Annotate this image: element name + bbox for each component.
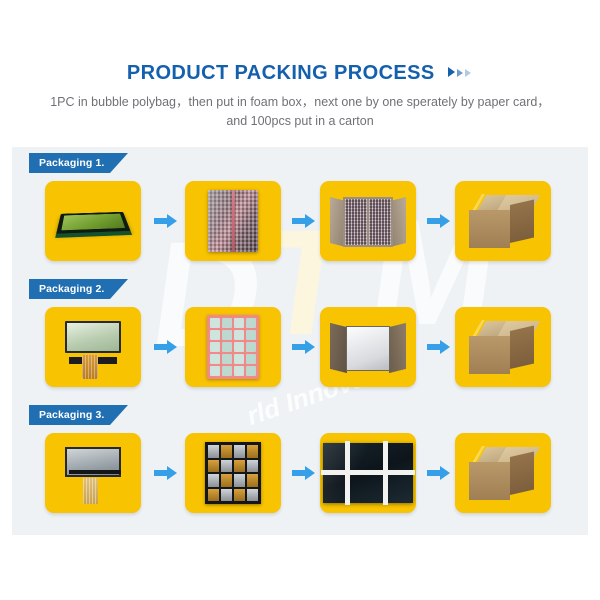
packaging-tab-1[interactable]: Packaging 1.: [29, 153, 110, 173]
packaging-row-1: Packaging 1.: [12, 147, 588, 273]
packaging-tab-3-label: Packaging 3.: [39, 409, 104, 421]
step-arrow-icon-2-1: [154, 340, 178, 354]
sealed-carton-icon: [455, 181, 551, 261]
step-arrow-icon-1-1: [154, 214, 178, 228]
step-card-cog-lcd-module[interactable]: [45, 307, 141, 387]
packaging-tab-2[interactable]: Packaging 2.: [29, 279, 110, 299]
tab-wedge-icon: [110, 279, 128, 299]
packaging-tab-3[interactable]: Packaging 3.: [29, 405, 110, 425]
step-card-open-carton-with-bubble-packs[interactable]: [320, 181, 416, 261]
sealed-carton-icon: [455, 307, 551, 387]
packaging-row-2: Packaging 2.: [12, 273, 588, 399]
step-arrow-icon-2-3: [427, 340, 451, 354]
open-carton-with-bubble-packs-icon: [320, 181, 416, 261]
page-title-row: PRODUCT PACKING PROCESS: [0, 62, 600, 85]
cog-lcd-module-icon: [45, 307, 141, 387]
open-carton-with-inner-box-icon: [320, 307, 416, 387]
play-arrow-icon-2: [457, 69, 463, 77]
play-arrow-icon-3: [465, 69, 471, 77]
step-card-sealed-carton-3[interactable]: [455, 433, 551, 513]
step-card-black-parts-tray[interactable]: [185, 433, 281, 513]
packaging-row-3: Packaging 3.: [12, 399, 588, 525]
page-title: PRODUCT PACKING PROCESS: [127, 62, 435, 85]
packaging-tab-1-label: Packaging 1.: [39, 157, 104, 169]
step-arrow-icon-3-2: [292, 466, 316, 480]
tab-wedge-icon: [110, 153, 128, 173]
tab-wedge-icon: [110, 405, 128, 425]
step-arrow-icon-1-3: [427, 214, 451, 228]
step-card-sealed-carton-2[interactable]: [455, 307, 551, 387]
packaging-row-3-flow: [12, 433, 588, 521]
step-card-capacitive-touch-lcd[interactable]: [45, 433, 141, 513]
packaging-row-1-flow: [12, 181, 588, 269]
capacitive-touch-lcd-icon: [45, 433, 141, 513]
lcd-module-bare-icon: [45, 181, 141, 261]
step-card-bubble-polybag[interactable]: [185, 181, 281, 261]
packing-process-panel: D T M rld Innovati Packaging 1.: [12, 147, 588, 535]
play-arrow-icon-1: [448, 67, 455, 77]
page-subtitle: 1PC in bubble polybag，then put in foam b…: [40, 93, 560, 131]
step-card-strapped-pallet-pack[interactable]: [320, 433, 416, 513]
step-arrow-icon-2-2: [292, 340, 316, 354]
triple-play-arrow-icon: [448, 64, 473, 82]
page-header: PRODUCT PACKING PROCESS 1PC in bubble po…: [0, 0, 600, 147]
packaging-tab-2-label: Packaging 2.: [39, 283, 104, 295]
step-card-sealed-carton-1[interactable]: [455, 181, 551, 261]
step-arrow-icon-1-2: [292, 214, 316, 228]
pink-antistatic-tray-icon: [185, 307, 281, 387]
strapped-pallet-pack-icon: [320, 433, 416, 513]
packaging-row-2-flow: [12, 307, 588, 395]
step-card-lcd-module-bare[interactable]: [45, 181, 141, 261]
black-parts-tray-icon: [185, 433, 281, 513]
sealed-carton-icon: [455, 433, 551, 513]
step-card-pink-antistatic-tray[interactable]: [185, 307, 281, 387]
step-card-open-carton-with-inner-box[interactable]: [320, 307, 416, 387]
step-arrow-icon-3-3: [427, 466, 451, 480]
step-arrow-icon-3-1: [154, 466, 178, 480]
bubble-polybag-icon: [185, 181, 281, 261]
